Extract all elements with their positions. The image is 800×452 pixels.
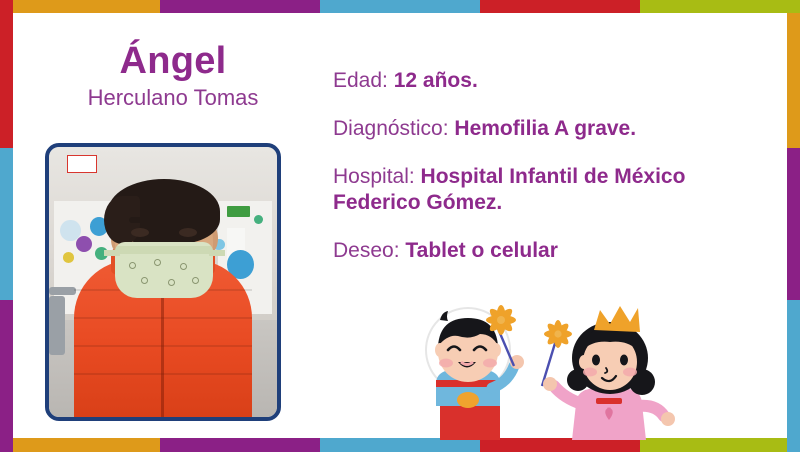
right-bar-segment-purple <box>787 148 800 300</box>
boy-ear-right <box>491 343 501 357</box>
patient-wish-card: Ángel Herculano Tomas <box>0 0 800 452</box>
bottom-bar-segment-orange <box>13 438 160 452</box>
girl-eye-right <box>620 355 628 366</box>
child-name-block: Ángel Herculano Tomas <box>28 42 318 110</box>
girl-cheek-right <box>623 368 637 377</box>
boy-ear-left <box>435 343 445 357</box>
bottom-bar-segment-blue <box>320 438 480 452</box>
photo-mask-pattern-4 <box>141 277 148 284</box>
girl-ear-left <box>579 355 589 369</box>
top-bar-segment-blue <box>320 0 480 13</box>
bottom-bar-segment-red <box>480 438 640 452</box>
top-bar-segment-orange <box>13 0 160 13</box>
photo-exit-sign <box>67 155 96 173</box>
bottom-bar-segment-olive <box>640 438 787 452</box>
detail-row-edad: Edad: 12 años. <box>333 68 753 94</box>
photo-mask-strap-right <box>209 250 225 257</box>
detail-label-deseo: Deseo: <box>333 239 400 262</box>
girl-hand-left <box>543 377 557 391</box>
boy-cheek-left <box>439 359 453 368</box>
child-details-list: Edad: 12 años. Diagnóstico: Hemofilia A … <box>333 68 753 264</box>
girl-star-flower-icon <box>544 320 572 348</box>
photo-child-eyebrow-left <box>129 217 152 223</box>
child-last-name: Herculano Tomas <box>28 86 318 110</box>
top-bar-segment-purple <box>160 0 320 13</box>
boy-hair-tuft <box>440 311 448 321</box>
photo-mask-pattern-6 <box>192 277 199 284</box>
right-bar-segment-orange <box>787 13 800 148</box>
detail-label-edad: Edad: <box>333 69 388 92</box>
top-bar-segment-olive <box>640 0 800 13</box>
left-bar-segment-blue <box>0 148 13 300</box>
child-photo <box>49 147 277 417</box>
girl-eye-left <box>592 355 600 366</box>
child-photo-frame <box>45 143 281 421</box>
girl-hand-right <box>661 412 675 426</box>
detail-row-diagnostico: Diagnóstico: Hemofilia A grave. <box>333 116 753 142</box>
boy-cheek-right <box>483 359 497 368</box>
top-bar-segment-red <box>480 0 640 13</box>
photo-mask-strap-left <box>104 250 120 257</box>
photo-chair-back <box>49 296 65 355</box>
kids-illustration-svg <box>418 300 688 440</box>
right-bar-segment-olive <box>787 0 800 13</box>
girl-cheek-left <box>583 368 597 377</box>
left-bar-segment-red <box>0 0 13 148</box>
bottom-bar-segment-purple <box>160 438 320 452</box>
detail-row-deseo: Deseo: Tablet o celular <box>333 238 753 264</box>
photo-child-eyebrow-right <box>177 217 200 223</box>
photo-mask-top-band <box>115 246 213 254</box>
photo-mask-pattern-1 <box>129 262 136 269</box>
photo-child-face-mask <box>115 242 213 299</box>
detail-value-diagnostico: Hemofilia A grave. <box>454 117 636 140</box>
detail-label-diagnostico: Diagnóstico: <box>333 117 449 140</box>
photo-green-sign <box>227 206 250 217</box>
photo-mask-pattern-3 <box>180 263 187 270</box>
photo-mask-pattern-2 <box>154 259 161 266</box>
photo-mask-pattern-5 <box>168 279 175 286</box>
kids-illustration <box>418 300 688 440</box>
detail-value-deseo: Tablet o celular <box>405 239 558 262</box>
child-first-name: Ángel <box>28 42 318 82</box>
boy-star-flower-icon <box>486 305 516 335</box>
detail-label-hospital: Hospital: <box>333 165 415 188</box>
photo-chair-armrest <box>49 287 76 295</box>
boy-shirt-emblem <box>457 392 479 408</box>
girl-dress-collar-stripe <box>596 398 622 404</box>
left-bar-segment-purple <box>0 300 13 452</box>
detail-row-hospital: Hospital: Hospital Infantil de México Fe… <box>333 164 753 216</box>
right-bar-segment-blue <box>787 300 800 452</box>
girl-crown-icon <box>594 306 640 332</box>
detail-value-edad: 12 años. <box>394 69 478 92</box>
photo-wall-dot-5 <box>63 252 74 263</box>
